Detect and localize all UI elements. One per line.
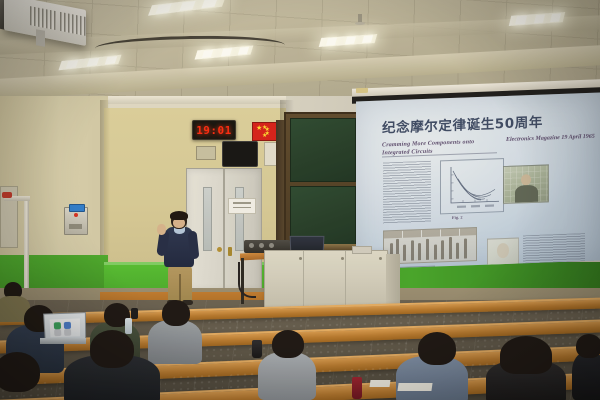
door-center-seam <box>223 169 225 291</box>
chinese-flag: ★ ★ ★ ★ ★ <box>252 122 278 141</box>
paper-sheet-1 <box>397 383 432 391</box>
student-head <box>162 300 190 326</box>
cost-curve-svg <box>441 159 503 213</box>
wall-speaker-box <box>196 146 216 160</box>
wall-control-panel[interactable] <box>64 207 88 235</box>
door-glass-pane-right <box>235 187 244 251</box>
door-sign <box>228 198 256 214</box>
clock-time: 19:01 <box>196 124 232 137</box>
student-head <box>90 330 134 368</box>
control-panel-label <box>69 224 82 229</box>
slide-figure-cost-curve <box>440 158 504 214</box>
control-panel-blue-lamp <box>69 204 85 212</box>
chalkboard-panel-upper <box>290 118 356 182</box>
red-thermos <box>352 377 362 399</box>
presenter-leg-split <box>179 274 181 302</box>
slide-photo-moore-color <box>503 164 549 204</box>
wall-clock: 19:01 <box>192 120 236 140</box>
equipment-cable <box>238 262 256 298</box>
black-thermos <box>252 340 262 358</box>
screen-roller-endcap <box>356 88 368 93</box>
student-torso <box>258 352 316 400</box>
student-head <box>272 330 304 358</box>
lectern-remote <box>352 246 372 254</box>
door-glass-pane-left <box>203 187 212 251</box>
control-panel-red-indicator <box>74 213 78 217</box>
slide-paper-text-column <box>383 161 431 225</box>
lectern-side-panel <box>386 254 400 306</box>
projector-mount <box>36 29 45 47</box>
sprinkler-head <box>358 14 362 23</box>
student-head <box>418 332 456 365</box>
door-handle[interactable] <box>228 247 232 256</box>
slide-figure-caption: Fig. 2 <box>452 213 482 222</box>
wall-monitor <box>222 141 258 167</box>
presenter-hair <box>170 211 188 220</box>
student-torso <box>148 320 202 364</box>
presenter-hand-gesture <box>157 224 166 235</box>
student-phone[interactable] <box>131 308 138 319</box>
wall-corner-shadow-left <box>100 100 110 280</box>
lecture-hall-photo: 19:01 ★ ★ ★ ★ ★ 纪念摩尔定律诞生50周年 Cramming Mo… <box>0 0 600 400</box>
student-torso <box>572 352 600 400</box>
projection-screen: 纪念摩尔定律诞生50周年 Cramming More Components on… <box>356 93 600 270</box>
student-head <box>0 352 40 392</box>
chalkboard-side-frame <box>276 120 284 246</box>
laptop-screen-content <box>50 318 81 337</box>
water-bottle <box>125 318 132 334</box>
laptop-keyboard[interactable] <box>40 338 86 344</box>
student-head <box>500 336 552 374</box>
chalkboard <box>284 112 360 252</box>
student-head <box>576 334 600 358</box>
lectern-cabinet <box>264 250 388 308</box>
paper-sheet-2 <box>370 380 391 387</box>
door-knob[interactable] <box>217 247 222 252</box>
pipe-valve-cap <box>2 192 12 198</box>
flag-star-4: ★ <box>262 133 267 139</box>
